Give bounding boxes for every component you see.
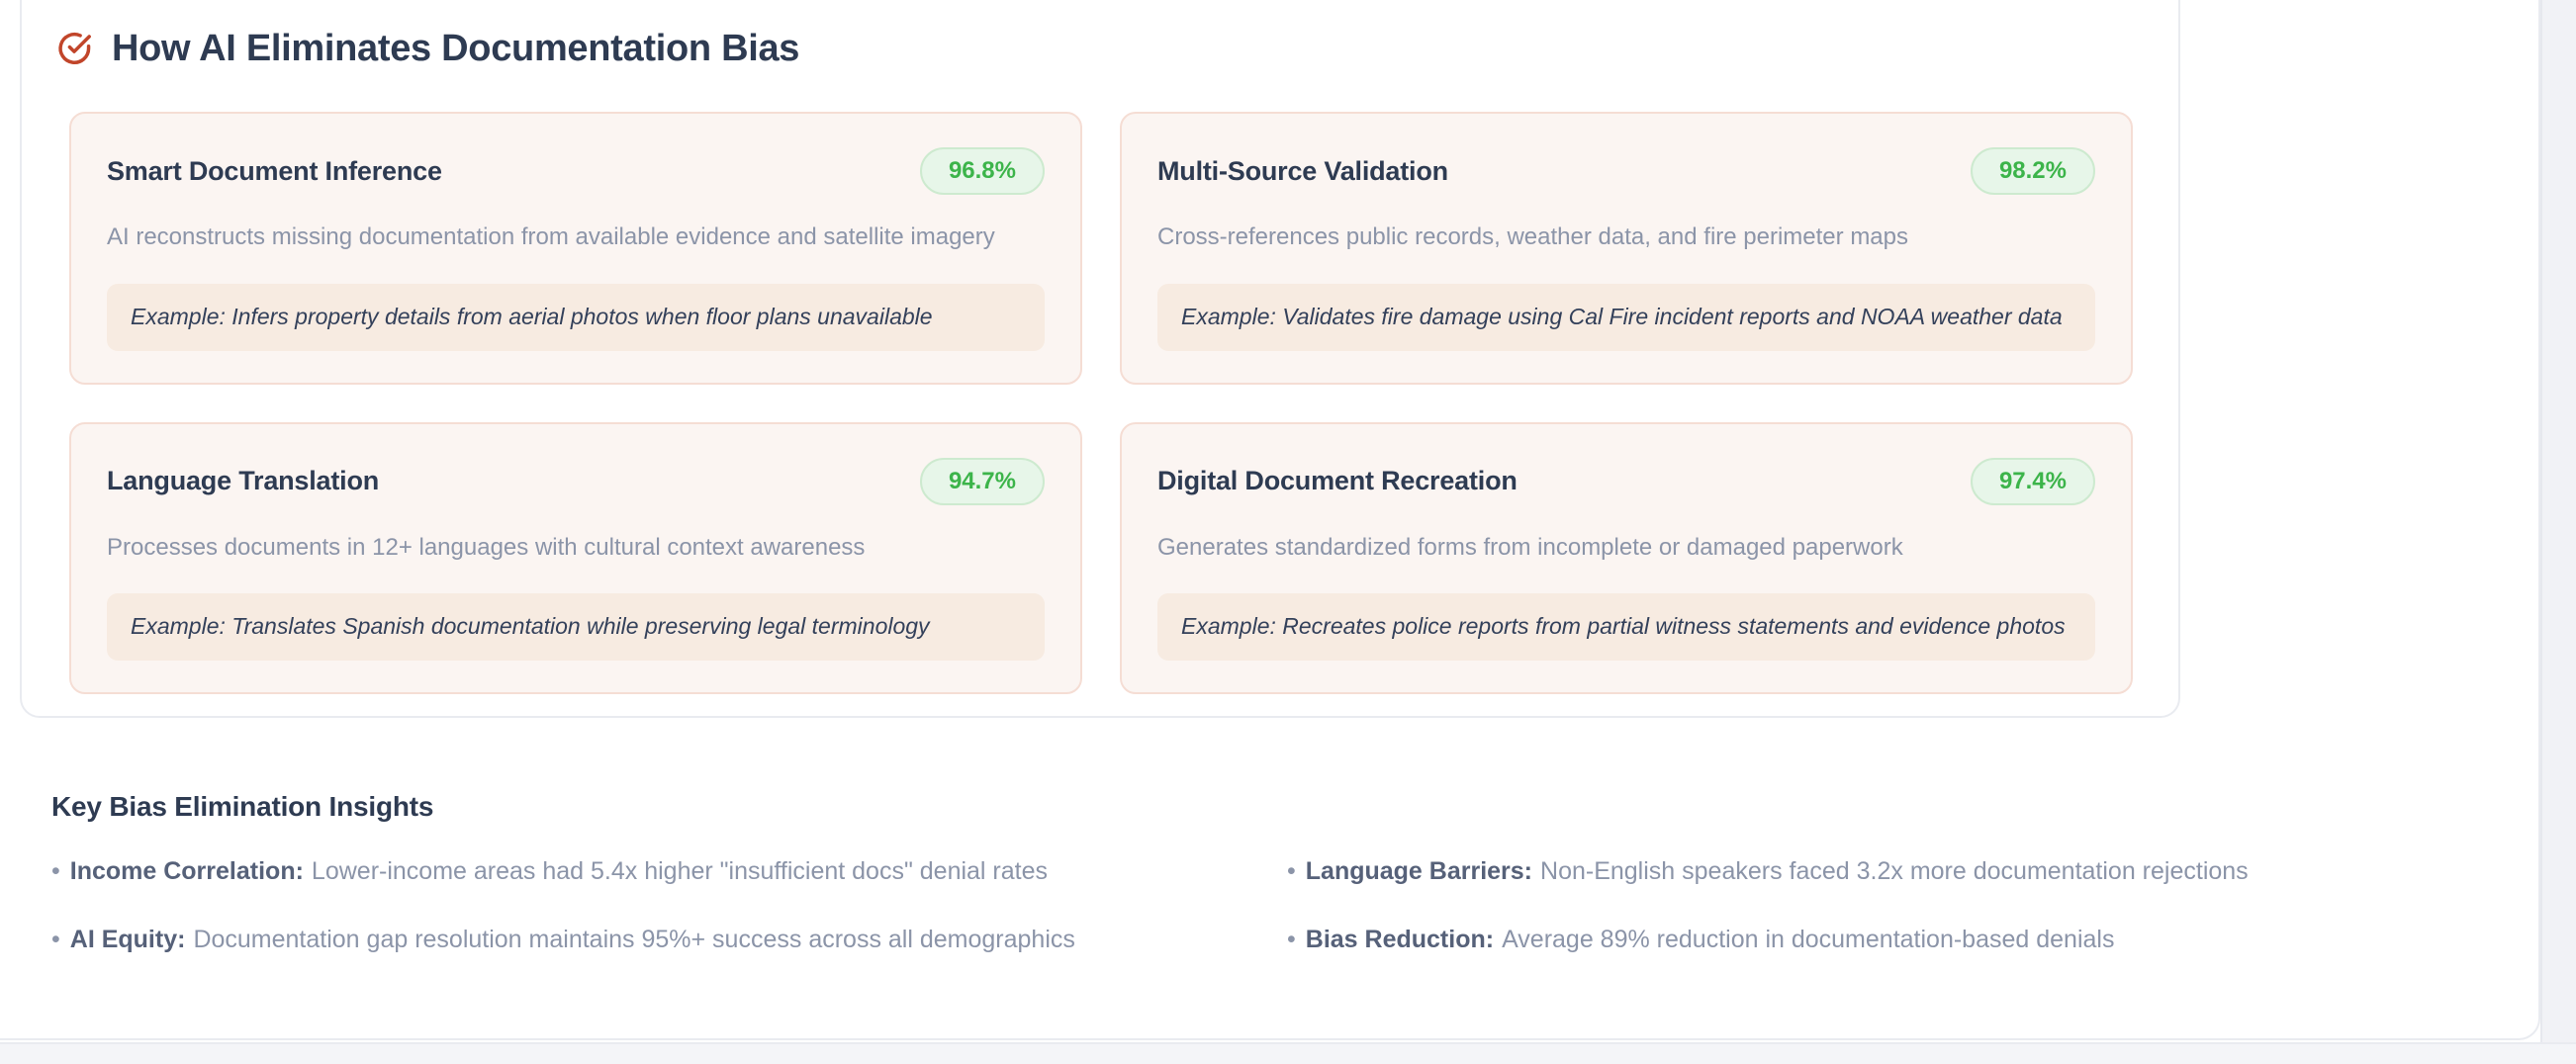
key-insights-section: Key Bias Elimination Insights • Income C… [51, 791, 2475, 955]
insight-item-income-correlation: • Income Correlation:Lower-income areas … [51, 855, 1240, 888]
feature-title: Digital Document Recreation [1157, 466, 1518, 496]
accuracy-badge: 97.4% [1971, 458, 2095, 505]
page-bottom-strip [0, 1042, 2576, 1064]
feature-example: Example: Recreates police reports from p… [1157, 593, 2095, 661]
insight-item-bias-reduction: • Bias Reduction:Average 89% reduction i… [1287, 924, 2475, 956]
feature-title: Smart Document Inference [107, 156, 442, 187]
insight-label: Income Correlation: [70, 857, 304, 885]
insight-text: Documentation gap resolution maintains 9… [193, 926, 1074, 953]
feature-card-language-translation[interactable]: Language Translation 94.7% Processes doc… [69, 422, 1082, 695]
bullet-icon: • [51, 859, 60, 884]
insight-text: Lower-income areas had 5.4x higher "insu… [312, 857, 1048, 885]
feature-example: Example: Infers property details from ae… [107, 284, 1045, 351]
bullet-icon: • [1287, 859, 1296, 884]
feature-card-header: Multi-Source Validation 98.2% [1157, 147, 2095, 195]
feature-description: AI reconstructs missing documentation fr… [107, 222, 1045, 253]
accuracy-badge: 98.2% [1971, 147, 2095, 195]
insights-grid: • Income Correlation:Lower-income areas … [51, 855, 2475, 955]
insight-text: Non-English speakers faced 3.2x more doc… [1540, 857, 2249, 885]
feature-title: Multi-Source Validation [1157, 156, 1448, 187]
insight-label: AI Equity: [70, 926, 186, 953]
feature-card-header: Smart Document Inference 96.8% [107, 147, 1045, 195]
feature-card-header: Language Translation 94.7% [107, 458, 1045, 505]
page-title: How AI Eliminates Documentation Bias [112, 30, 799, 67]
feature-card-digital-document-recreation[interactable]: Digital Document Recreation 97.4% Genera… [1120, 422, 2133, 695]
feature-example: Example: Validates fire damage using Cal… [1157, 284, 2095, 351]
page-root: How AI Eliminates Documentation Bias Sma… [0, 0, 2576, 1064]
insight-label: Language Barriers: [1306, 857, 1532, 885]
ai-bias-section-card: How AI Eliminates Documentation Bias Sma… [20, 0, 2180, 718]
feature-title: Language Translation [107, 466, 379, 496]
feature-card-multi-source-validation[interactable]: Multi-Source Validation 98.2% Cross-refe… [1120, 112, 2133, 385]
feature-card-smart-document-inference[interactable]: Smart Document Inference 96.8% AI recons… [69, 112, 1082, 385]
feature-example: Example: Translates Spanish documentatio… [107, 593, 1045, 661]
insight-label: Bias Reduction: [1306, 926, 1494, 953]
circle-check-icon [55, 30, 93, 67]
bullet-icon: • [51, 928, 60, 952]
feature-card-header: Digital Document Recreation 97.4% [1157, 458, 2095, 505]
scrollbar-track[interactable] [2540, 0, 2576, 1064]
bullet-icon: • [1287, 928, 1296, 952]
accuracy-badge: 94.7% [920, 458, 1045, 505]
feature-description: Cross-references public records, weather… [1157, 222, 2095, 253]
feature-grid: Smart Document Inference 96.8% AI recons… [22, 67, 2178, 694]
section-header: How AI Eliminates Documentation Bias [22, 0, 2178, 67]
feature-description: Generates standardized forms from incomp… [1157, 532, 2095, 564]
content-panel: How AI Eliminates Documentation Bias Sma… [0, 0, 2540, 1040]
feature-description: Processes documents in 12+ languages wit… [107, 532, 1045, 564]
insight-item-language-barriers: • Language Barriers:Non-English speakers… [1287, 855, 2475, 888]
insights-heading: Key Bias Elimination Insights [51, 791, 2475, 823]
insight-text: Average 89% reduction in documentation-b… [1502, 926, 2114, 953]
accuracy-badge: 96.8% [920, 147, 1045, 195]
insight-item-ai-equity: • AI Equity:Documentation gap resolution… [51, 924, 1240, 956]
